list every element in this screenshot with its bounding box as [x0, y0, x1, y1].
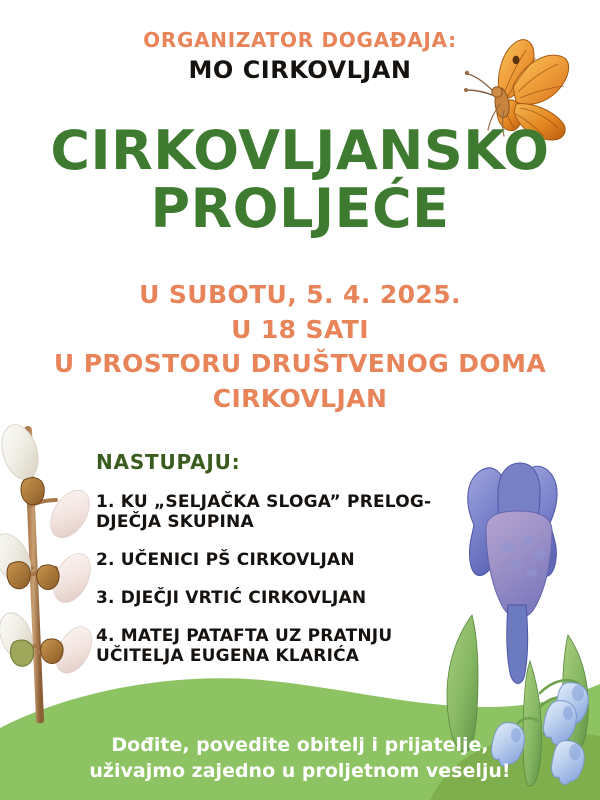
poster-text-layer: ORGANIZATOR DOGAĐAJA: MO CIRKOVLJAN CIRK… [0, 0, 600, 800]
list-item: 4. MATEJ PATAFTA UZ PRATNJU UČITELJA EUG… [96, 626, 496, 666]
event-details: U SUBOTU, 5. 4. 2025. U 18 SATI U PROSTO… [0, 278, 600, 416]
event-time: U 18 SATI [0, 313, 600, 348]
closing-line-1: Dođite, povedite obitelj i prijatelje, [0, 733, 600, 759]
organizer-label: ORGANIZATOR DOGAĐAJA: [0, 28, 600, 52]
list-item: 1. KU „SELJAČKA SLOGA” PRELOG- DJEČJA SK… [96, 492, 496, 532]
event-venue: U PROSTORU DRUŠTVENOG DOMA [0, 347, 600, 382]
event-poster: ORGANIZATOR DOGAĐAJA: MO CIRKOVLJAN CIRK… [0, 0, 600, 800]
event-place: CIRKOVLJAN [0, 382, 600, 417]
poster-title: CIRKOVLJANSKO PROLJEĆE [0, 122, 600, 239]
poster-title-line-2: PROLJEĆE [0, 180, 600, 238]
poster-title-line-1: CIRKOVLJANSKO [50, 119, 549, 182]
closing-invitation: Dođite, povedite obitelj i prijatelje, u… [0, 733, 600, 784]
lineup-heading: NASTUPAJU: [96, 450, 240, 474]
list-item: 2. UČENICI PŠ CIRKOVLJAN [96, 550, 496, 570]
closing-line-2: uživajmo zajedno u proljetnom veselju! [0, 759, 600, 785]
organizer-name: MO CIRKOVLJAN [0, 56, 600, 84]
event-date: U SUBOTU, 5. 4. 2025. [0, 278, 600, 313]
lineup-list: 1. KU „SELJAČKA SLOGA” PRELOG- DJEČJA SK… [96, 492, 496, 684]
list-item: 3. DJEČJI VRTIĆ CIRKOVLJAN [96, 588, 496, 608]
